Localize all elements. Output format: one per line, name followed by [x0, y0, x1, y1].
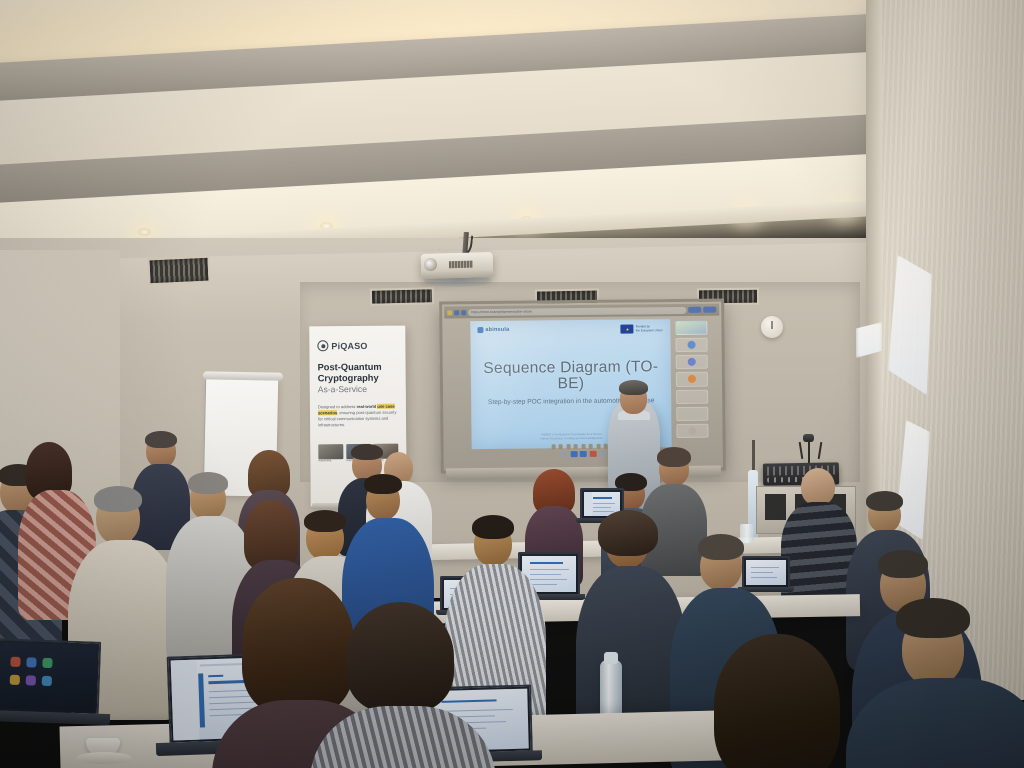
app-icon [42, 658, 52, 668]
app-icon [10, 675, 20, 685]
banner-heading-line1: Post-Quantum [318, 362, 382, 373]
doc-heading [442, 699, 497, 702]
toolbar-tool-row[interactable] [551, 444, 615, 450]
ceiling-downlight [138, 228, 151, 236]
play-icon[interactable] [570, 451, 577, 457]
drinking-glass [740, 524, 754, 543]
attendee-hair [188, 472, 228, 494]
attendee-hair [94, 486, 142, 512]
sidebar-item-app-grey[interactable] [676, 424, 708, 438]
pen-icon[interactable] [551, 444, 555, 449]
browser-action-icon[interactable] [688, 307, 701, 313]
window-control-icon[interactable] [454, 310, 459, 315]
board-app-sidebar[interactable] [675, 321, 708, 438]
attendee-hair [364, 474, 402, 494]
doc-brand-line [209, 675, 223, 678]
sidebar-item-panel-pale[interactable] [676, 406, 708, 420]
banner-body-prefix: Designed to address [318, 404, 357, 409]
window-control-icon[interactable] [447, 310, 452, 315]
wall-clock-icon [761, 316, 783, 338]
eu-flag-icon [621, 324, 634, 333]
piqaso-logo-icon [317, 340, 328, 351]
eu-funding-text: Funded by the European Union [636, 325, 663, 333]
attendee-hair [304, 510, 346, 532]
select-icon[interactable] [581, 444, 585, 449]
attendee-hair [896, 598, 970, 638]
projector-vent-icon [449, 261, 473, 269]
interactive-whiteboard[interactable]: https://meet.example/presentation-share … [439, 299, 726, 474]
projector-lens-icon [424, 258, 437, 271]
bottle-cap-icon [604, 652, 618, 664]
undo-icon[interactable] [596, 444, 600, 449]
sidebar-item-app-orange[interactable] [676, 372, 708, 386]
doc-heading [593, 497, 612, 499]
doc-line [530, 584, 557, 585]
menu-icon[interactable] [561, 451, 568, 457]
record-icon[interactable] [589, 451, 596, 457]
attendee-hair [351, 444, 383, 460]
thumbnail-caption: Automotive [318, 460, 343, 463]
slide-brand-name: abinsula [485, 327, 509, 333]
doc-line [751, 567, 779, 568]
banner-body-bold: real-world [357, 404, 377, 409]
banner-subheading: As-a-Service [318, 385, 398, 396]
sidebar-item-thumbnail[interactable] [675, 321, 707, 335]
toolbar-action-row[interactable] [561, 451, 606, 457]
app-icon [26, 675, 36, 685]
banner-thumbnail: Automotive [318, 444, 343, 463]
highlighter-icon[interactable] [559, 444, 563, 449]
doc-line [593, 503, 615, 504]
doc-line [530, 569, 569, 570]
doc-nav-rail [199, 673, 206, 727]
laptop-screen [742, 556, 790, 587]
eraser-icon[interactable] [566, 444, 570, 449]
app-icon [42, 676, 52, 686]
doc-line [751, 572, 773, 573]
app-icon [10, 657, 20, 667]
doc-line [593, 511, 614, 512]
address-bar[interactable]: https://meet.example/presentation-share [468, 306, 686, 315]
attendee-hair [698, 534, 744, 560]
sidebar-item-panel-light[interactable] [676, 389, 708, 403]
doc-line [442, 709, 512, 712]
board-browser-bar[interactable]: https://meet.example/presentation-share [444, 304, 719, 319]
front-attendee-laptop[interactable] [0, 640, 110, 723]
eu-funding-line2: the European Union [636, 328, 663, 332]
flipchart-top-bar [203, 371, 283, 380]
doc-sidebar [584, 492, 592, 516]
attendee-laptop[interactable] [742, 556, 794, 592]
attendee-hair [598, 510, 658, 556]
close-icon[interactable] [599, 451, 606, 457]
attendee-hair [866, 491, 903, 511]
conference-room-scene: https://meet.example/presentation-share … [0, 0, 1024, 768]
slide-brand-logo: abinsula [477, 327, 509, 333]
sidebar-item-app-blue[interactable] [676, 338, 708, 352]
pause-icon[interactable] [580, 451, 587, 457]
text-icon[interactable] [589, 444, 593, 449]
doc-line [751, 577, 777, 578]
hvac-vent-icon [370, 287, 434, 306]
attendee-hair [242, 578, 354, 714]
shape-icon[interactable] [574, 444, 578, 449]
laptop-display [0, 642, 97, 711]
banner-logo: PiQASO [317, 340, 397, 352]
browser-action-icon[interactable] [703, 307, 716, 313]
browser-actions[interactable] [688, 307, 716, 313]
doc-heading [530, 562, 563, 564]
banner-heading-line2: Cryptography [318, 373, 379, 384]
saucer [76, 752, 132, 764]
doc-sidebar [171, 660, 200, 741]
doc-line [593, 507, 610, 508]
presenter-hair [619, 380, 648, 395]
laptop-display [746, 560, 786, 585]
rack-slot [765, 494, 786, 520]
app-icon [688, 358, 696, 366]
thumbnail-image [318, 444, 343, 459]
attendee-hair [878, 550, 928, 578]
doc-line [530, 579, 567, 580]
slide-footer-line2: Partner Consortium | Funding and Acknowl… [540, 437, 602, 441]
hvac-vent-icon [147, 256, 210, 286]
app-icon [688, 341, 696, 349]
app-icon [26, 657, 36, 667]
banner-logo-text: PiQASO [331, 340, 367, 350]
attendee-head [801, 468, 835, 506]
doc-line [530, 574, 561, 575]
abinsula-logo-icon [477, 327, 483, 333]
app-icon [688, 375, 696, 383]
window-control-icon[interactable] [461, 310, 466, 315]
attendee-hair [714, 634, 840, 768]
eu-funding-badge: Funded by the European Union [621, 324, 663, 333]
banner-heading: Post-Quantum Cryptography [318, 362, 398, 385]
banner-body-text: Designed to address real-world use case … [318, 403, 398, 428]
sidebar-item-app-indigo[interactable] [676, 355, 708, 369]
attendee-hair [346, 602, 454, 712]
laptop-screen [0, 638, 101, 714]
attendee-hair [472, 515, 514, 539]
app-icon [688, 427, 696, 435]
attendee-hair [657, 447, 691, 467]
attendee-hair [145, 431, 177, 448]
